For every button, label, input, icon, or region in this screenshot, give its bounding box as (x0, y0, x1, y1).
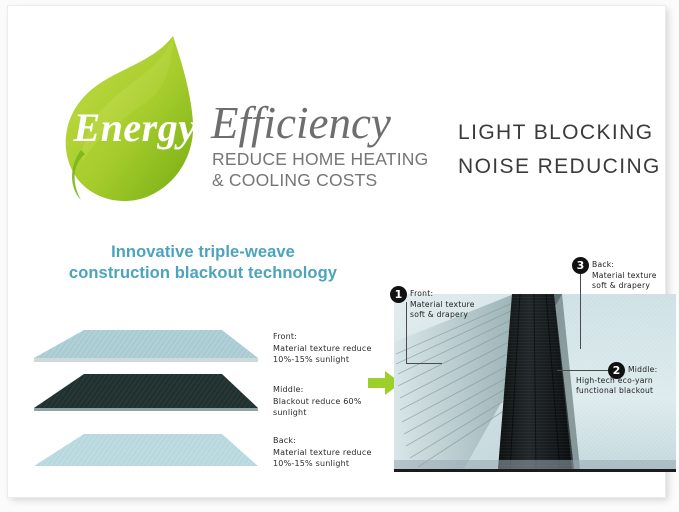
layer-middle-title: Middle: (273, 384, 362, 396)
callout-1-desc-2: soft & drapery (410, 310, 475, 321)
callout-3-desc-1: Material texture (592, 271, 657, 282)
callout-1-desc-1: Material texture (410, 300, 475, 311)
callout-3-title: Back: (592, 260, 657, 271)
layer-label-back: Back: Material texture reduce 10%-15% su… (273, 435, 372, 470)
callout-2-leader (557, 370, 609, 371)
headline-line-2: construction blackout technology (38, 263, 368, 284)
callout-3-marker: 3 (572, 257, 589, 274)
claim-light-blocking: LIGHT BLOCKING (458, 116, 661, 150)
callout-1-leader-2 (406, 363, 442, 364)
layer-back-title: Back: (273, 435, 372, 447)
infographic-canvas: Energy Efficiency REDUCE HOME HEATING & … (0, 0, 679, 512)
layer-slab-front (26, 326, 264, 366)
callout-3-leader (580, 274, 581, 349)
product-claims: LIGHT BLOCKING NOISE REDUCING (458, 116, 661, 184)
headline-line-1: Innovative triple-weave (38, 242, 368, 263)
page-subtitle: REDUCE HOME HEATING & COOLING COSTS (212, 149, 428, 191)
layer-back-desc-1: Material texture reduce (273, 447, 372, 459)
layer-slab-middle (26, 370, 264, 414)
callout-1-text: Front: Material texture soft & drapery (410, 289, 475, 321)
layer-back-desc-2: 10%-15% sunlight (273, 458, 372, 470)
green-leaf-icon: Energy (55, 30, 203, 210)
layer-label-middle: Middle: Blackout reduce 60% sunlight (273, 384, 362, 419)
page-title: Efficiency (211, 101, 391, 146)
callout-2-desc-1: High-tech eco-yarn (576, 376, 653, 387)
callout-2-desc-2: functional blackout (576, 386, 653, 397)
section-headline: Innovative triple-weave construction bla… (38, 242, 368, 284)
product-infographic-card: Energy Efficiency REDUCE HOME HEATING & … (8, 6, 665, 497)
layer-slab-back (26, 430, 264, 472)
layer-middle-desc-1: Blackout reduce 60% (273, 396, 362, 408)
layer-middle-desc-2: sunlight (273, 407, 362, 419)
layer-front-desc-1: Material texture reduce (273, 343, 372, 355)
layer-label-front: Front: Material texture reduce 10%-15% s… (273, 331, 372, 366)
callout-3-text: Back: Material texture soft & drapery (592, 260, 657, 292)
subtitle-line-2: & COOLING COSTS (212, 170, 428, 191)
callout-1-leader (406, 302, 407, 363)
callout-3-desc-2: soft & drapery (592, 281, 657, 292)
layer-front-title: Front: (273, 331, 372, 343)
claim-noise-reducing: NOISE REDUCING (458, 150, 661, 184)
subtitle-line-1: REDUCE HOME HEATING (212, 149, 428, 170)
callout-1-marker: 1 (390, 286, 407, 303)
callout-2-text: Middle: High-tech eco-yarn functional bl… (628, 365, 657, 376)
logo-wordmark: Energy (65, 108, 205, 148)
callout-1-title: Front: (410, 289, 475, 300)
layer-front-desc-2: 10%-15% sunlight (273, 354, 372, 366)
callout-2-title: Middle: (628, 365, 657, 376)
